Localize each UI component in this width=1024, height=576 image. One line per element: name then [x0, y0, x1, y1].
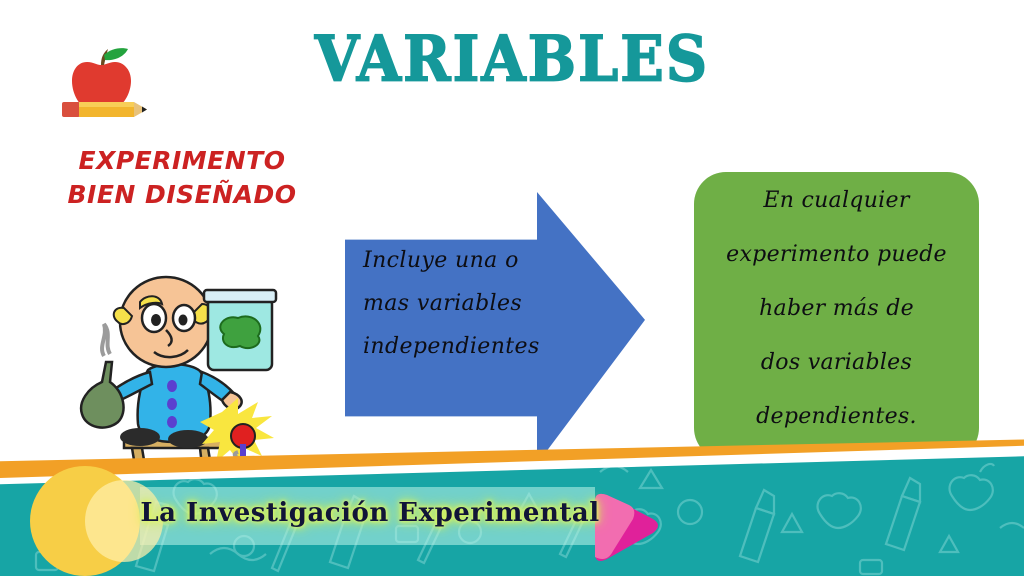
arrow-callout-text: Incluye una o mas variables independient…	[363, 240, 558, 369]
red-heading-line-2: BIEN DISEÑADO	[62, 178, 302, 212]
arrow-callout: Incluye una o mas variables independient…	[345, 192, 645, 464]
green-callout-text: En cualquier experimento puede haber más…	[694, 174, 979, 443]
arrow-text-line-2: mas variables	[363, 283, 558, 326]
green-text-line-3: haber más de	[694, 282, 979, 336]
arrow-text-line-3: independientes	[363, 326, 558, 369]
arrow-text-line-1: Incluye una o	[363, 240, 558, 283]
green-text-line-2: experimento puede	[694, 228, 979, 282]
green-text-line-4: dos variables	[694, 336, 979, 390]
footer-caption: La Investigación Experimental	[140, 498, 600, 528]
slide-canvas: VARIABLES EXPERIMENTO BIEN DISEÑADO	[0, 0, 1024, 576]
red-heading: EXPERIMENTO BIEN DISEÑADO	[62, 144, 302, 212]
green-text-line-1: En cualquier	[694, 174, 979, 228]
page-title: VARIABLES	[0, 28, 1024, 91]
red-heading-line-1: EXPERIMENTO	[62, 144, 302, 178]
